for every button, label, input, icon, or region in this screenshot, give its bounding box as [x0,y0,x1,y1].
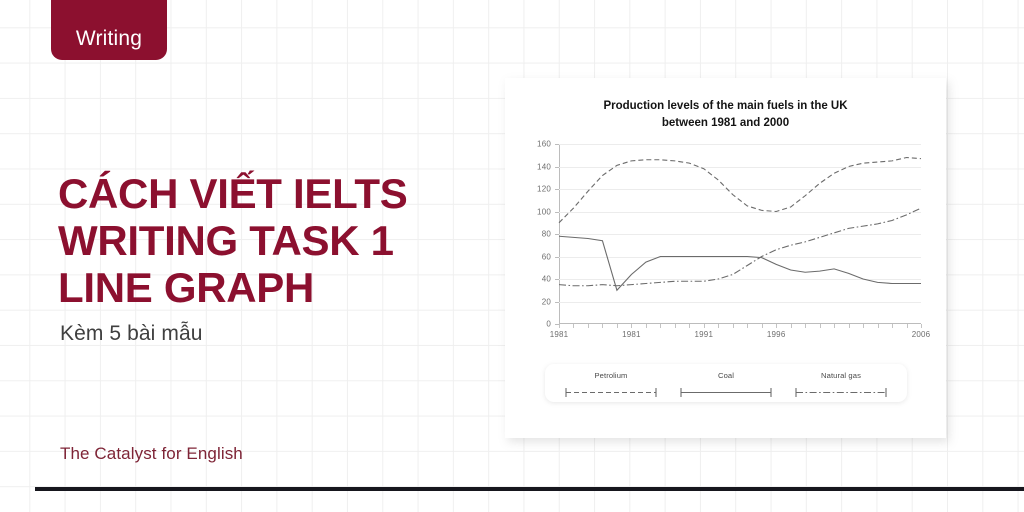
y-axis-tick-label: 60 [542,252,551,261]
legend-swatch [680,388,772,397]
x-axis-tick [791,324,792,328]
legend-swatch [565,388,657,397]
series-line-petrolium [559,158,921,223]
x-axis-tick [762,324,763,328]
x-axis-tick [878,324,879,328]
x-axis-tick-label: 1996 [767,330,786,339]
y-axis-labels: 020406080100120140160 [525,144,555,324]
series-line-coal [559,236,921,290]
x-axis-tick [776,324,777,328]
x-axis-tick [907,324,908,328]
y-axis-tick-label: 140 [537,162,551,171]
legend-item-coal[interactable]: Coal [672,371,780,397]
x-axis-tick [805,324,806,328]
chart-title-line-1: Production levels of the main fuels in t… [505,98,946,115]
x-axis-tick-label: 1981 [622,330,641,339]
x-axis-tick [675,324,676,328]
x-axis-tick [588,324,589,328]
series-layer [559,144,921,324]
x-axis-tick [733,324,734,328]
y-axis-tick-label: 80 [542,230,551,239]
headline-line-2: WRITING TASK 1 [58,217,478,264]
footer-divider [35,487,1024,491]
chart-title: Production levels of the main fuels in t… [505,98,946,131]
x-axis-tick [820,324,821,328]
chart-title-line-2: between 1981 and 2000 [505,115,946,132]
legend-label: Petrolium [557,371,665,380]
legend-label: Coal [672,371,780,380]
y-axis-tick-label: 120 [537,185,551,194]
y-axis-tick-label: 100 [537,207,551,216]
legend-item-natural-gas[interactable]: Natural gas [787,371,895,397]
page-subtitle: Kèm 5 bài mẫu [60,322,203,346]
x-axis-tick [646,324,647,328]
writing-badge-label: Writing [76,28,142,49]
writing-badge: Writing [51,0,167,60]
x-axis-tick [863,324,864,328]
x-axis-tick [617,324,618,328]
x-axis-tick-label: 1991 [694,330,713,339]
x-axis-tick [849,324,850,328]
x-axis-tick [834,324,835,328]
legend-swatch [795,388,887,397]
page-title: CÁCH VIẾT IELTS WRITING TASK 1 LINE GRAP… [58,170,478,311]
chart-card: Production levels of the main fuels in t… [505,78,946,438]
x-axis-tick [631,324,632,328]
x-axis-tick [660,324,661,328]
chart-plot-area: 020406080100120140160 198119811991199620… [525,144,925,344]
plot-canvas: 19811981199119962006 [559,144,921,324]
y-axis-tick-label: 0 [546,320,551,329]
headline-line-1: CÁCH VIẾT IELTS [58,170,478,217]
y-axis-tick-label: 160 [537,140,551,149]
headline-line-3: LINE GRAPH [58,264,478,311]
x-axis-tick [689,324,690,328]
x-axis-tick [718,324,719,328]
x-axis-tick [747,324,748,328]
x-axis-tick [559,324,560,328]
x-axis-tick [573,324,574,328]
slide-canvas: Writing CÁCH VIẾT IELTS WRITING TASK 1 L… [0,0,1024,512]
x-axis-tick [704,324,705,328]
x-axis-tick [892,324,893,328]
x-axis-tick-label: 1981 [550,330,569,339]
legend-item-petrolium[interactable]: Petrolium [557,371,665,397]
series-line-natural-gas [559,208,921,286]
y-axis-tick-label: 20 [542,297,551,306]
x-axis-tick-label: 2006 [912,330,931,339]
chart-legend: PetroliumCoalNatural gas [545,364,907,402]
footer-brand-text: The Catalyst for English [60,444,243,464]
x-axis-tick [602,324,603,328]
legend-label: Natural gas [787,371,895,380]
x-axis-tick [921,324,922,328]
y-axis-tick-label: 40 [542,275,551,284]
